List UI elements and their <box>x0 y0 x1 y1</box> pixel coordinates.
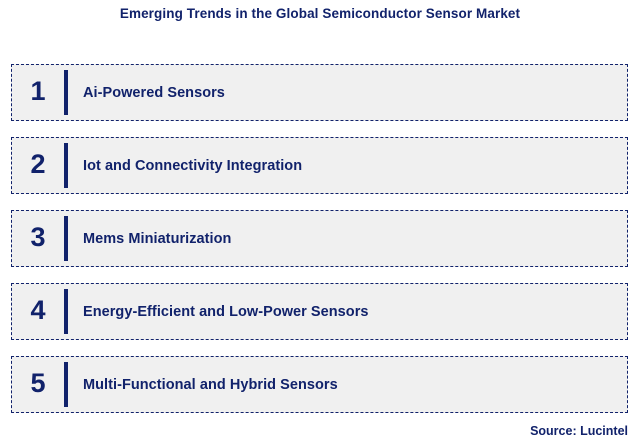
trend-label: Mems Miniaturization <box>68 231 627 247</box>
trend-label: Energy-Efficient and Low-Power Sensors <box>68 304 627 320</box>
list-item: 2 Iot and Connectivity Integration <box>11 137 628 194</box>
list-item: 3 Mems Miniaturization <box>11 210 628 267</box>
page-title: Emerging Trends in the Global Semiconduc… <box>0 6 640 21</box>
rank-number: 5 <box>12 370 64 399</box>
source-attribution: Source: Lucintel <box>530 424 628 438</box>
trend-label: Ai-Powered Sensors <box>68 85 627 101</box>
infographic-container: Emerging Trends in the Global Semiconduc… <box>0 0 640 448</box>
rank-number: 1 <box>12 78 64 107</box>
trend-label: Multi-Functional and Hybrid Sensors <box>68 377 627 393</box>
rank-number: 2 <box>12 151 64 180</box>
trend-label: Iot and Connectivity Integration <box>68 158 627 174</box>
trend-list: 1 Ai-Powered Sensors 2 Iot and Connectiv… <box>11 64 628 413</box>
rank-number: 3 <box>12 224 64 253</box>
list-item: 1 Ai-Powered Sensors <box>11 64 628 121</box>
rank-number: 4 <box>12 297 64 326</box>
list-item: 5 Multi-Functional and Hybrid Sensors <box>11 356 628 413</box>
list-item: 4 Energy-Efficient and Low-Power Sensors <box>11 283 628 340</box>
